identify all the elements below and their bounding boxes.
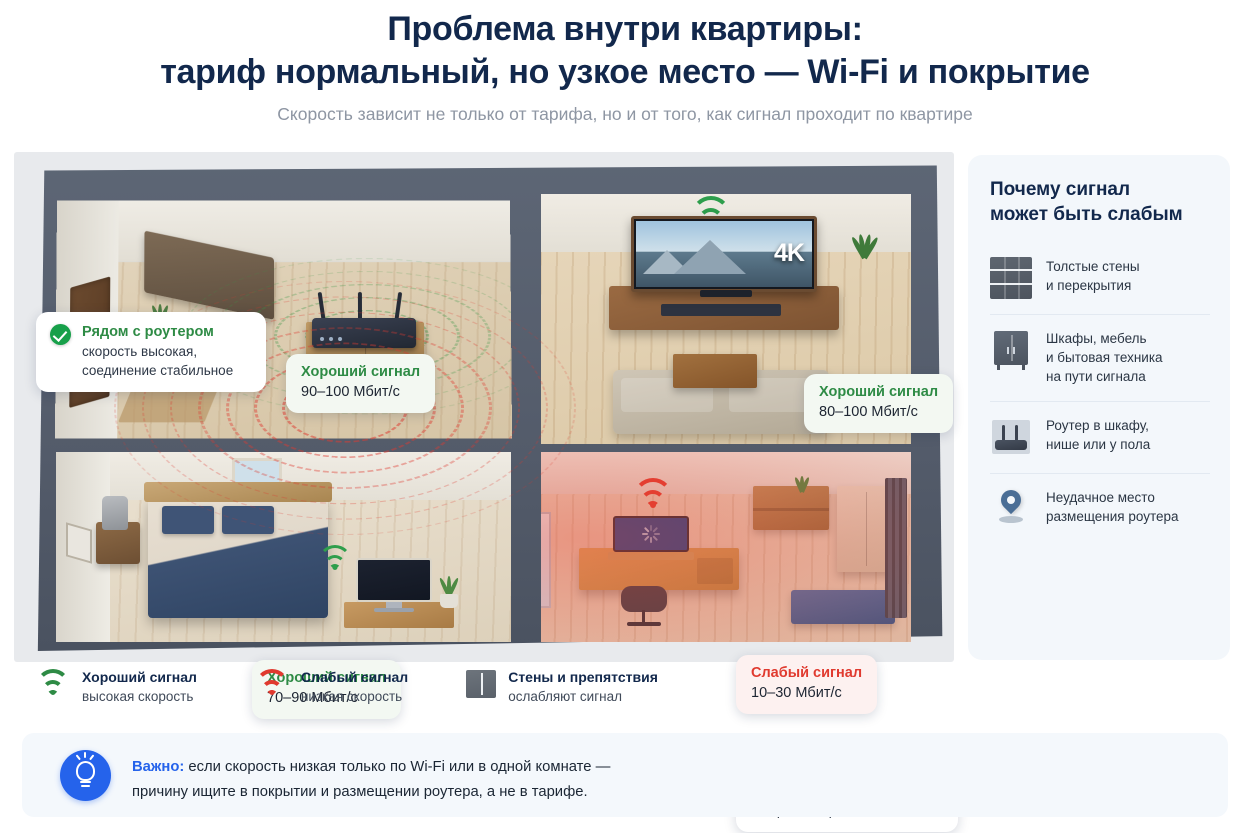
infographic-root: Проблема внутри квартиры: тариф нормальн… (0, 0, 1250, 833)
reason-item-walls: Толстые стены и перекрытия (990, 243, 1210, 315)
reason-item-router-placement: Роутер в шкафу, нише или у пола (990, 402, 1210, 474)
reason-item-bad-location: Неудачное место размещения роутера (990, 474, 1210, 545)
plant-icon (436, 574, 462, 608)
legend-sub: высокая скорость (82, 687, 197, 706)
reason-line1: Шкафы, мебель (1046, 331, 1147, 346)
tv-mountain-shape (674, 240, 746, 274)
coffee-table (673, 354, 757, 388)
lamp-icon (102, 496, 128, 530)
floor-plan: 4K (14, 152, 954, 662)
pillow (162, 506, 214, 534)
panel-title: Почему сигнал может быть слабым (990, 177, 1210, 227)
page-title-line1: Проблема внутри квартиры: (0, 8, 1250, 50)
reason-line2: размещения роутера (1046, 509, 1179, 524)
speed-chip-router-room: Хороший сигнал 90–100 Мбит/с (286, 354, 435, 413)
chip-status: Хороший сигнал (819, 383, 938, 402)
reason-line2: и бытовая техника (1046, 350, 1163, 365)
reason-line1: Неудачное место (1046, 490, 1155, 505)
wall-picture-frame (66, 522, 92, 563)
pillow (222, 506, 274, 534)
legend-item-walls: Стены и препятствия ослабляют сигнал (466, 668, 658, 706)
important-lead: Важно: (132, 759, 184, 775)
panel-title-line2: может быть слабым (990, 204, 1183, 225)
lightbulb-icon (60, 750, 111, 801)
reason-line1: Толстые стены (1046, 259, 1140, 274)
callout-title: Рядом с роутером (82, 323, 250, 342)
legend-title: Слабый сигнал (301, 668, 408, 687)
tv-4k-badge: 4K (774, 239, 804, 268)
important-note-text: Важно: если скорость низкая только по Wi… (132, 755, 732, 805)
reason-line1: Роутер в шкафу, (1046, 418, 1149, 433)
room-router-back-wall (57, 201, 511, 263)
header: Проблема внутри квартиры: тариф нормальн… (0, 8, 1250, 125)
wall-swatch-icon (466, 670, 496, 698)
callout-line2: соединение стабильное (82, 361, 250, 380)
speed-chip-tv-room: Хороший сигнал 80–100 Мбит/с (804, 374, 953, 433)
television: 4K (631, 216, 817, 292)
reason-line3: на пути сигнала (1046, 369, 1146, 384)
callout-line1: скорость высокая, (82, 342, 250, 361)
chip-value: 90–100 Мбит/с (301, 382, 420, 403)
reason-text: Шкафы, мебель и бытовая техника на пути … (1046, 329, 1163, 386)
legend-sub: низкая скорость (301, 687, 408, 706)
wifi-green-icon (318, 548, 352, 570)
important-note-bar: Важно: если скорость низкая только по Wi… (22, 733, 1228, 817)
chip-status: Хороший сигнал (301, 363, 420, 382)
room-bedroom (56, 452, 511, 642)
page-subtitle: Скорость зависит не только от тарифа, но… (0, 103, 1250, 125)
panel-title-line1: Почему сигнал (990, 179, 1130, 200)
reason-list: Толстые стены и перекрытия Шкафы, мебель… (990, 243, 1210, 545)
callout-near-router: Рядом с роутером скорость высокая, соеди… (36, 312, 266, 392)
chip-value: 80–100 Мбит/с (819, 402, 938, 423)
tv-stand-foot (700, 290, 752, 297)
reason-text: Роутер в шкафу, нише или у пола (1046, 416, 1150, 454)
bed-headboard (144, 482, 332, 502)
page-title-line2: тариф нормальный, но узкое место — Wi-Fi… (0, 50, 1250, 94)
legend-title: Стены и препятствия (508, 668, 658, 687)
reason-text: Неудачное место размещения роутера (1046, 488, 1179, 526)
reason-line2: и перекрытия (1046, 278, 1131, 293)
monitor-base (374, 608, 414, 612)
desktop-monitor (356, 558, 432, 610)
legend-sub: ослабляют сигнал (508, 687, 658, 706)
legend-item-weak: Слабый сигнал низкая скорость (255, 668, 408, 706)
chip-value: 10–30 Мбит/с (751, 683, 862, 704)
speed-chip-office: Слабый сигнал 10–30 Мбит/с (736, 655, 877, 714)
router-led-icons (320, 337, 342, 341)
weak-signal-overlay (541, 452, 911, 642)
why-weak-panel: Почему сигнал может быть слабым Толстые … (968, 155, 1230, 660)
chip-status: Слабый сигнал (751, 664, 862, 683)
reason-line2: нише или у пола (1046, 437, 1150, 452)
map-pin-icon (990, 488, 1032, 530)
check-circle-icon (50, 324, 71, 345)
legend-item-good: Хороший сигнал высокая скорость (36, 668, 197, 706)
important-line2: причину ищите в покрытии и размещении ро… (132, 784, 588, 800)
room-office-weak (541, 452, 911, 642)
monitor-screen (356, 558, 432, 602)
legend: Хороший сигнал высокая скорость Слабый с… (36, 668, 658, 706)
reason-item-furniture: Шкафы, мебель и бытовая техника на пути … (990, 315, 1210, 402)
router-icon (990, 416, 1032, 458)
router-body (312, 318, 416, 348)
bed (148, 498, 328, 618)
cabinet-icon (990, 329, 1032, 371)
wifi-red-icon (255, 670, 289, 696)
important-line1: если скорость низкая только по Wi-Fi или… (184, 759, 610, 775)
legend-title: Хороший сигнал (82, 668, 197, 687)
reason-text: Толстые стены и перекрытия (1046, 257, 1140, 295)
plant-icon (849, 230, 879, 266)
brick-wall-icon (990, 257, 1032, 299)
wifi-green-icon (36, 670, 70, 696)
